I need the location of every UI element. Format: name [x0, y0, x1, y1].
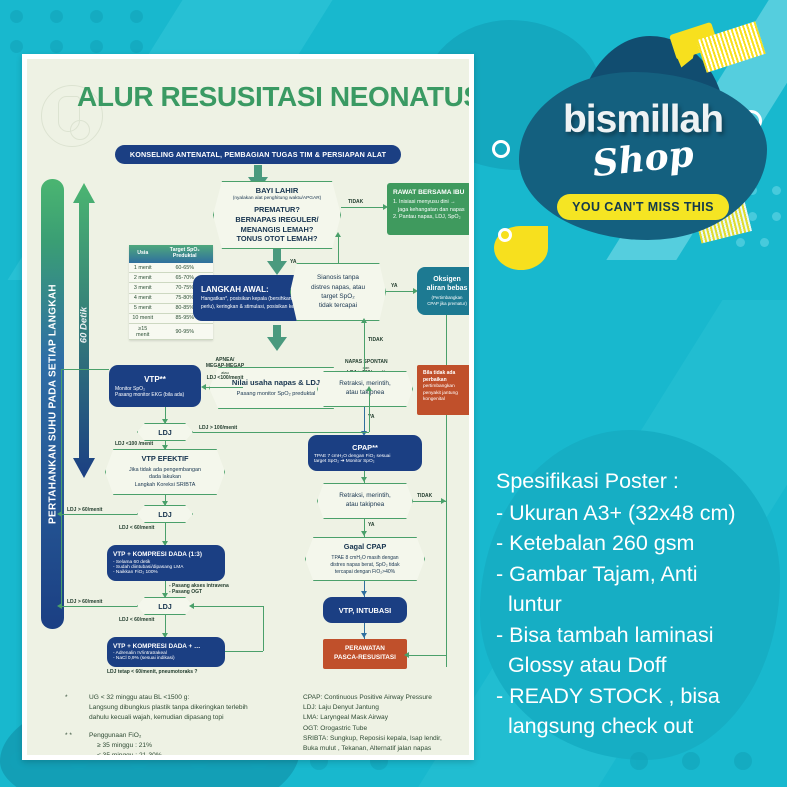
spo2-cell-target: 90-95% [156, 324, 213, 340]
ldj-3-label: LDJ [158, 602, 172, 611]
node-ldj-2: LDJ [137, 505, 193, 523]
kompresi-plus-title: VTP + KOMPRESI DADA + … [113, 643, 200, 650]
edge-label-apnea: APNEA/ MEGAP-MEGAP atau LDJ <100/menit [205, 357, 245, 381]
node-retraksi-1: Retraksi, merintih, atau takipnea [317, 371, 413, 407]
gagal-cpap-l2: distres napas berat, SpO₂ tidak [330, 562, 399, 569]
retraksi1-l2: atau takipnea [346, 389, 384, 398]
edge-ldj3-left [61, 606, 137, 607]
bila-l2: perbaikan [423, 377, 469, 384]
edge-bila-to-perawatan [407, 655, 446, 656]
banner-konseling: KONSELING ANTENATAL, PEMBAGIAN TUGAS TIM… [115, 145, 401, 164]
rawat-title: RAWAT BERSAMA IBU [393, 188, 465, 197]
edge-left-return-top [61, 369, 109, 370]
spo2-row: 1 menit60-65% [129, 263, 213, 273]
arrowhead-bila-to-perawatan [404, 652, 409, 658]
edge-plus-loop-back [193, 606, 263, 607]
arrowhead-vtpefektif-to-ldj2 [162, 501, 168, 506]
kompresi-plus-l2: - NaCl 0,9% (sesuai indikasi) [113, 656, 175, 661]
arrowhead-vtp-to-ldj1 [162, 419, 168, 424]
spo2-row: ≥15 menit90-95% [129, 324, 213, 340]
node-ldj-3: LDJ [137, 597, 193, 615]
gagal-cpap-l1: TPAE 8 cmH₂O masih dengan [331, 555, 398, 562]
bayi-lahir-title: BAYI LAHIR [256, 186, 299, 196]
node-vtp-kompresi-plus: VTP + KOMPRESI DADA + … - Adrenalin IV/i… [107, 637, 225, 667]
edge-label-tidak-retraksi2: TIDAK [417, 493, 432, 499]
label-ldj-lt100: LDJ <100/menit [205, 375, 245, 381]
retraksi2-l2: atau takipnea [346, 501, 384, 510]
arrowhead-nilai-to-vtp [201, 384, 206, 390]
node-sianosis: Sianosis tanpa distres napas, atau targe… [290, 263, 386, 321]
spec-panel: Spesifikasi Poster : - Ukuran A3+ (32x48… [496, 466, 782, 742]
kompresi-l3: - Naikkan FiO₂ 100% [113, 570, 158, 575]
arrowhead-ldj1-to-nilai [366, 386, 372, 391]
cpap-title: CPAP** [352, 443, 378, 452]
node-vtp-efektif: VTP EFEKTIF Jika tidak ada pengembangan … [105, 449, 225, 495]
vtp-efektif-title: VTP EFEKTIF [141, 454, 188, 464]
spo2-cell-usia: ≥15 menit [129, 324, 156, 340]
cpap-l2: target SpO₂ ➜ Monitor SpO₂ [314, 459, 375, 464]
nilai-usaha-sub: Pasang monitor SpO₂ preduktal [237, 390, 316, 398]
spo2-cell-usia: 5 menit [129, 303, 156, 313]
ldj-1-label: LDJ [158, 428, 172, 437]
edge-retraksi1-to-sianosis [364, 321, 365, 371]
edge-label-ldj-gt60-a: LDJ > 60/menit [67, 507, 102, 513]
footnote-group: *UG < 32 minggu atau BL <1500 g:Langsung… [65, 693, 280, 724]
node-ldj-1: LDJ [137, 423, 193, 441]
spec-items: - Ukuran A3+ (32x48 cm)- Ketebalan 260 g… [496, 498, 782, 742]
node-perawatan-pasca: PERAWATAN PASCA-RESUSITASI [323, 639, 407, 669]
sianosis-l4: tidak tercapai [319, 301, 357, 310]
page-title: ALUR RESUSITASI NEONATUS [77, 81, 474, 113]
footnote-line: UG < 32 minggu atau BL <1500 g: [89, 693, 280, 703]
rawat-l2: 2. Pantau napas, LDJ, SpO₂ [393, 214, 465, 222]
edge-label-ldj-gt60-b: LDJ > 60/menit [67, 599, 102, 605]
arrowhead-gagal-to-intubasi [361, 591, 367, 596]
edge-bayi-to-rawat [341, 207, 385, 208]
node-gagal-cpap: Gagal CPAP TPAE 8 cmH₂O masih dengan dis… [305, 537, 425, 581]
spo2-cell-usia: 4 menit [129, 293, 156, 303]
ldj-2-label: LDJ [158, 510, 172, 519]
arrow-bayi-to-langkah [267, 249, 287, 275]
spec-item: luntur [496, 589, 782, 620]
oksigen-l1: Oksigen [433, 275, 461, 284]
footnote-line: Penggunaan FiO₂ [89, 731, 280, 741]
node-vtp-intubasi: VTP, INTUBASI [323, 597, 407, 623]
edge-nilai-to-vtp [205, 387, 243, 388]
bila-l1: Bila tidak ada [423, 370, 469, 377]
node-cpap: CPAP** TPAE 7 cmH₂O dengan FiO₂ sesuai t… [308, 435, 422, 471]
arrowhead-retraksi2-to-gagal [361, 531, 367, 536]
temperature-bar-label: PERTAHANKAN SUHU PADA SETIAP LANGKAH [47, 284, 58, 524]
perawatan-l1: PERAWATAN [345, 645, 385, 654]
edge-left-return [61, 369, 62, 607]
footnote-group: * *Penggunaan FiO₂≥ 35 minggu : 21%< 35 … [65, 731, 280, 760]
bayi-lahir-q3: MENANGIS LEMAH? [241, 225, 314, 235]
edge-plus-loop-up [263, 606, 264, 651]
sianosis-l2: distres napas, atau [311, 283, 365, 292]
sianosis-l3: target SpO₂ [321, 292, 354, 301]
edge-plus-loop-right [225, 651, 263, 652]
gagal-cpap-l3: tercapai dengan FiO₂>40% [335, 569, 395, 576]
spo2-cell-target: 60-65% [156, 263, 213, 273]
label-megap: MEGAP-MEGAP [205, 363, 245, 369]
bila-l5: kongenital [423, 397, 469, 404]
spec-item: langsung check out [496, 711, 782, 742]
arrowhead-ldj1-down [162, 445, 168, 450]
edge-label-ldj-tetap: LDJ tetap < 60/menit, pneumotoraks ? [107, 669, 197, 675]
spo2-cell-usia: 2 menit [129, 273, 156, 283]
oksigen-l2: aliran bebas [427, 284, 468, 293]
abbreviation-line: LMA: Laryngeal Mask Airway [303, 713, 474, 723]
gagal-cpap-title: Gagal CPAP [344, 542, 387, 552]
footnote-line: < 35 minggu : 21-30% [89, 751, 280, 760]
footnote-marker: * * [65, 731, 72, 741]
langkah-awal-title: LANGKAH AWAL: [201, 285, 269, 294]
bayi-lahir-q2: BERNAPAS IREGULER/ [235, 215, 318, 225]
vtp-intubasi-title: VTP, INTUBASI [339, 606, 391, 615]
arrow-langkah-to-nilai [267, 325, 287, 351]
kompresi-title: VTP + KOMPRESI DADA (1:3) [113, 551, 202, 558]
arrowhead-retraksi1-to-sianosis [361, 318, 367, 323]
bg-dotgrid-bottomright [620, 742, 787, 787]
footnotes-left: *UG < 32 minggu atau BL <1500 g:Langsung… [65, 693, 280, 760]
bayi-lahir-q1: PREMATUR? [254, 205, 300, 215]
abbreviation-line: TPAE : Tekanan Puncak Akhir Ekspirasi [303, 754, 474, 760]
footnotes-right: CPAP: Continuous Positive Airway Pressur… [303, 693, 474, 760]
arrowhead-intubasi-to-perawatan [361, 633, 367, 638]
rawat-l1b: jaga kehangatan dan napas [393, 207, 465, 215]
edge-label-ldj-lt60-a: LDJ < 60/menit [119, 525, 154, 531]
edge-label-tidak-1: TIDAK [348, 199, 363, 205]
abbreviation-line: OGT: Orogastric Tube [303, 724, 474, 734]
spo2-th-usia: Usia [129, 245, 156, 263]
edge-ldj1-right [193, 432, 369, 433]
spec-item: - Gambar Tajam, Anti [496, 559, 782, 590]
spec-item: - READY STOCK , bisa [496, 681, 782, 712]
vtp-title: VTP** [144, 375, 166, 384]
node-bayi-lahir: BAYI LAHIR (nyalakan alat penghitung wak… [213, 181, 341, 249]
abbreviation-line: CPAP: Continuous Positive Airway Pressur… [303, 693, 474, 703]
edge-label-pasang: - Pasang akses intravena - Pasang OGT [169, 583, 229, 596]
spec-item: - Ketebalan 260 gsm [496, 528, 782, 559]
bila-l3: pertimbangkan [423, 384, 469, 391]
vtp-efektif-l2: dada lakukan [149, 474, 181, 482]
oksigen-sub2: CPAP jika prematur) [427, 301, 467, 307]
vtp-l2: Pasang monitor EKG (bila ada) [115, 392, 184, 398]
spec-item: - Bisa tambah laminasi [496, 620, 782, 651]
edge-label-ya-1: YA [290, 259, 297, 265]
edge-label-ldj-lt60-b: LDJ < 60/menit [119, 617, 154, 623]
sianosis-l1: Sianosis tanpa [317, 273, 359, 282]
abbreviation-line: Buka mulut , Tekanan, Alternatif jalan n… [303, 744, 474, 754]
spec-heading: Spesifikasi Poster : [496, 466, 782, 497]
node-vtp: VTP** Monitor SpO₂ Pasang monitor EKG (b… [109, 365, 201, 407]
spo2-cell-usia: 3 menit [129, 283, 156, 293]
edge-oksigen-to-bila [446, 315, 447, 365]
spec-item: Glossy atau Doff [496, 650, 782, 681]
poster-sheet: ALUR RESUSITASI NEONATUS PERTAHANKAN SUH… [22, 54, 474, 760]
arrowhead-cpap-to-retraksi2 [361, 477, 367, 482]
arrowhead-retraksi2-tidak [441, 498, 446, 504]
decor-ring-2 [492, 140, 510, 158]
footnote-line: ≥ 35 minggu : 21% [89, 741, 280, 751]
perawatan-l2: PASCA-RESUSITASI [334, 654, 396, 663]
bayi-lahir-sub: (nyalakan alat penghitung waktu/APGAR) [233, 196, 322, 202]
edge-sianosis-tidak-up [338, 235, 339, 263]
brand-logo: bismillah Shop YOU CAN'T MISS THIS [519, 72, 767, 240]
edge-ldj2-left [61, 514, 137, 515]
edge-ldj1-right-up [369, 389, 370, 432]
edge-label-ya-retraksi2: YA [368, 522, 375, 528]
spec-item: - Ukuran A3+ (32x48 cm) [496, 498, 782, 529]
label-pasang-ogt: - Pasang OGT [169, 589, 229, 595]
footnote-marker: * [65, 693, 68, 703]
nilai-usaha-title: Nilai usaha napas & LDJ [232, 377, 320, 388]
bayi-lahir-q4: TONUS OTOT LEMAH? [236, 234, 317, 244]
spo2-cell-usia: 10 menit [129, 313, 156, 323]
edge-bila-down [446, 415, 447, 667]
edge-label-ldj-gt100-b: LDJ > 100/menit [199, 425, 237, 431]
abbreviation-line: LDJ: Laju Denyut Jantung [303, 703, 474, 713]
timer-arrow: 60 Detik [72, 183, 96, 478]
edge-sianosis-to-oksigen [386, 291, 415, 292]
node-vtp-kompresi-dada: VTP + KOMPRESI DADA (1:3) - Selama 60 de… [107, 545, 225, 581]
retraksi2-l1: Retraksi, merintih, [339, 492, 391, 501]
arrowhead-sianosis-tidak-up [335, 232, 341, 237]
decor-ring-4 [498, 228, 512, 242]
timer-label: 60 Detik [79, 306, 90, 342]
edge-label-ldj-lt100-b: LDJ <100 /menit [115, 441, 153, 447]
edge-label-ya-sianosis: YA [391, 283, 398, 289]
footnote-line: dahulu kecuali wajah, kemudian dipasang … [89, 713, 280, 723]
edge-label-tidak-sianosis: TIDAK [368, 337, 383, 343]
spo2-th-target: Target SpO₂ Preduktal [156, 245, 213, 263]
edge-retraksi1-to-cpap [364, 407, 365, 433]
abbreviation-line: SRIBTA: Sungkup, Reposisi kepala, Isap l… [303, 734, 474, 744]
logo-tagline: YOU CAN'T MISS THIS [557, 194, 729, 220]
rawat-l1: 1. Inisiasi menyusu dini → [393, 199, 465, 207]
retraksi1-l1: Retraksi, merintih, [339, 380, 391, 389]
spo2-cell-usia: 1 menit [129, 263, 156, 273]
node-rawat-bersama-ibu: RAWAT BERSAMA IBU 1. Inisiasi menyusu di… [387, 183, 471, 235]
node-bila-tidak-ada-perbaikan: Bila tidak ada perbaikan pertimbangkan p… [417, 365, 474, 415]
vtp-efektif-l3: Langkah Koreksi SRIBTA [135, 482, 196, 490]
node-oksigen-aliran-bebas: Oksigen aliran bebas (Pertimbangkan CPAP… [417, 267, 474, 315]
footnote-line: Langsung dibungkus plastik tanpa dikerin… [89, 703, 280, 713]
arrowhead-plus-loop [189, 603, 194, 609]
vtp-efektif-l1: Jika tidak ada pengembangan [129, 467, 201, 475]
arrowhead-kompresi-to-ldj3 [162, 593, 168, 598]
node-retraksi-2: Retraksi, merintih, atau takipnea [317, 483, 413, 519]
